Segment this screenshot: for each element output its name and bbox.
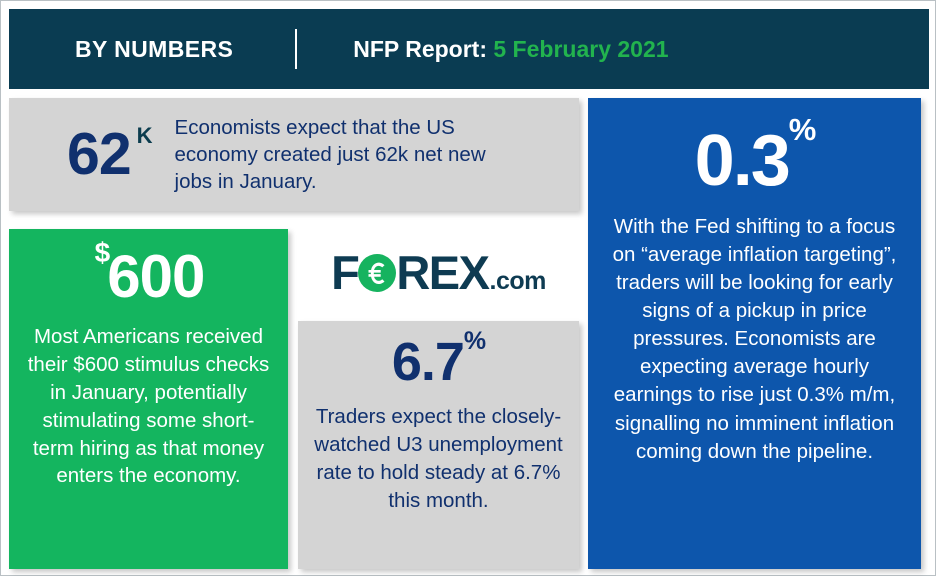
- stat-panel-jobs: 62K Economists expect that the US econom…: [9, 98, 579, 211]
- stat-number-unemployment: 6.7: [392, 332, 464, 392]
- header-report: NFP Report: 5 February 2021: [353, 36, 668, 63]
- stat-currency-stimulus: $: [95, 237, 110, 268]
- stat-panel-unemployment: 6.7% Traders expect the closely-watched …: [298, 321, 579, 569]
- stat-panel-stimulus: $600 Most Americans received their $600 …: [9, 229, 288, 569]
- header-report-label: NFP Report:: [353, 36, 493, 62]
- header-report-date: 5 February 2021: [493, 36, 668, 62]
- stat-body-stimulus: Most Americans received their $600 stimu…: [23, 323, 274, 490]
- stat-body-unemployment: Traders expect the closely-watched U3 un…: [314, 403, 563, 515]
- header-divider: [295, 29, 297, 69]
- header-title: BY NUMBERS: [75, 36, 233, 63]
- stat-unit-unemployment: %: [464, 327, 485, 355]
- forex-logo-rex: REX: [396, 249, 488, 296]
- forex-logo-f: F: [331, 249, 358, 296]
- stat-value-stimulus: $600: [9, 247, 288, 307]
- stat-value-unemployment: 6.7%: [298, 335, 579, 389]
- stat-unit-earnings: %: [789, 112, 815, 147]
- stat-number-stimulus: 600: [107, 243, 204, 310]
- stat-number-earnings: 0.3: [695, 121, 789, 201]
- stat-panel-earnings: 0.3% With the Fed shifting to a focus on…: [588, 98, 921, 569]
- stat-body-jobs: Economists expect that the US economy cr…: [175, 114, 520, 195]
- infographic-canvas: BY NUMBERS NFP Report: 5 February 2021 6…: [0, 0, 936, 576]
- stat-value-jobs: 62K: [67, 125, 147, 184]
- stat-number-jobs: 62: [67, 121, 131, 187]
- header-title-bold: NUMBERS: [114, 36, 233, 62]
- stat-value-earnings: 0.3%: [588, 125, 921, 197]
- header-bar: BY NUMBERS NFP Report: 5 February 2021: [9, 9, 929, 89]
- euro-circle-icon: [357, 253, 397, 293]
- forex-logo-dotcom: .com: [490, 269, 546, 294]
- header-title-light: BY: [75, 36, 114, 62]
- forex-logo: F REX .com: [298, 241, 579, 303]
- forex-logo-wordmark: F REX .com: [331, 249, 546, 296]
- stat-body-earnings: With the Fed shifting to a focus on “ave…: [606, 213, 903, 466]
- stat-unit-jobs: K: [137, 123, 153, 148]
